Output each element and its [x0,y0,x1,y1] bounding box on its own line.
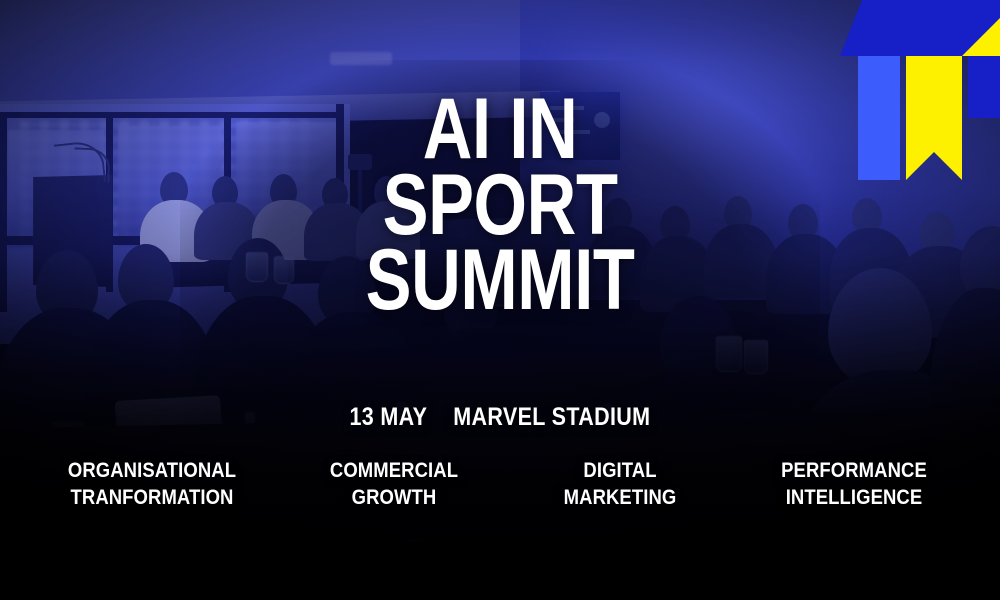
topic-line: PERFORMANCE [759,458,949,485]
topic-line: MARKETING [534,485,706,512]
topic-line: GROWTH [306,485,482,512]
topic-digital-marketing: DIGITAL MARKETING [521,458,718,512]
poster-content: AI IN SPORT SUMMIT 13 MAY MARVEL STADIUM… [0,0,1000,600]
topic-line: COMMERCIAL [306,458,482,485]
topic-performance-intelligence: PERFORMANCE INTELLIGENCE [747,458,962,512]
topic-commercial-growth: COMMERCIAL GROWTH [294,458,495,512]
topic-line: INTELLIGENCE [759,485,949,512]
title-line-3: SUMMIT [366,243,635,319]
event-poster: AI IN SPORT SUMMIT 13 MAY MARVEL STADIUM… [0,0,1000,600]
topic-organisational-transformation: ORGANISATIONAL TRANFORMATION [39,458,264,512]
topic-line: DIGITAL [534,458,706,485]
topic-line: ORGANISATIONAL [52,458,253,485]
event-venue: MARVEL STADIUM [453,403,650,431]
page-title: AI IN SPORT SUMMIT [366,92,635,319]
event-details: 13 MAY MARVEL STADIUM [350,403,651,432]
topic-line: TRANFORMATION [52,485,253,512]
topic-list: ORGANISATIONAL TRANFORMATION COMMERCIAL … [0,458,1000,512]
event-date: 13 MAY [350,403,427,431]
